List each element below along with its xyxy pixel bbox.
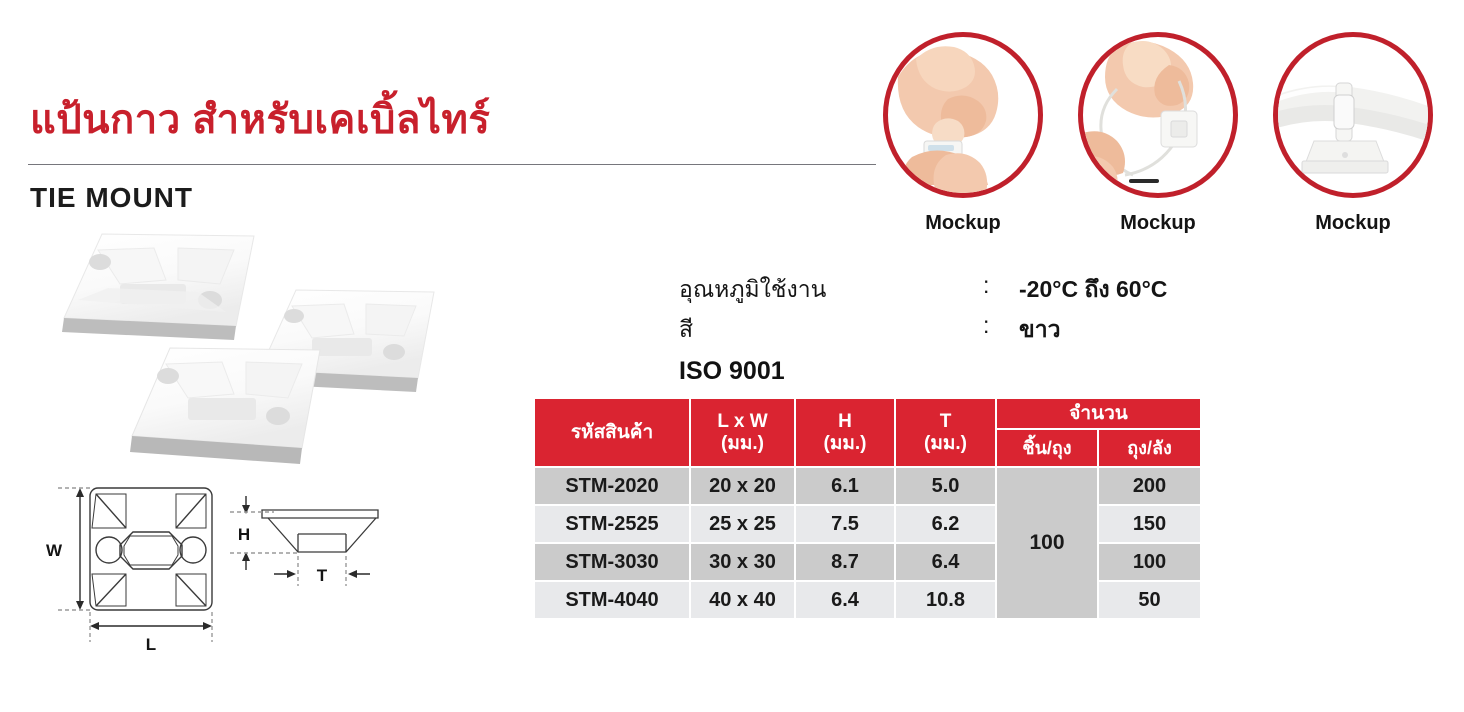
svg-text:L: L bbox=[146, 635, 156, 654]
cell-height: 6.1 bbox=[795, 467, 895, 505]
spec-label-color: สี bbox=[679, 312, 693, 348]
mockup-circle-2 bbox=[1078, 32, 1238, 198]
svg-text:W: W bbox=[46, 541, 63, 560]
cell-thickness: 5.0 bbox=[895, 467, 996, 505]
mockup-item-1: Mockup bbox=[883, 32, 1043, 235]
hand-threading-cable-tie-illustration bbox=[1083, 37, 1233, 193]
cell-bags-per-carton: 100 bbox=[1098, 543, 1201, 581]
header-pieces-per-bag: ชิ้น/ถุง bbox=[996, 429, 1098, 467]
mockup-circle-3 bbox=[1273, 32, 1433, 198]
header-thickness: T (มม.) bbox=[895, 398, 996, 467]
cell-thickness: 10.8 bbox=[895, 581, 996, 619]
mockup-caption-1: Mockup bbox=[883, 212, 1043, 235]
cell-pieces-per-bag: 100 bbox=[996, 467, 1098, 619]
catalog-page: แป้นกาว สำหรับเคเบิ้ลไทร์ TIE MOUNT Mock… bbox=[0, 0, 1464, 712]
cell-height: 8.7 bbox=[795, 543, 895, 581]
spec-label-temperature: อุณหภูมิใช้งาน bbox=[679, 272, 826, 308]
header-t-line2: (มม.) bbox=[924, 433, 967, 454]
cell-length-width: 30 x 30 bbox=[690, 543, 795, 581]
mockup-item-3: Mockup bbox=[1273, 32, 1433, 235]
header-h-line2: (มม.) bbox=[824, 433, 867, 454]
header-t-line1: T bbox=[940, 411, 952, 432]
cell-product-code: STM-3030 bbox=[534, 543, 690, 581]
spec-colon-temperature: : bbox=[983, 272, 989, 299]
header-product-code: รหัสสินค้า bbox=[534, 398, 690, 467]
page-title-thai: แป้นกาว สำหรับเคเบิ้ลไทร์ bbox=[30, 98, 490, 142]
cell-product-code: STM-2525 bbox=[534, 505, 690, 543]
header-length-width: L x W (มม.) bbox=[690, 398, 795, 467]
table-row: STM-2525 25 x 25 7.5 6.2 150 bbox=[534, 505, 1201, 543]
cell-bags-per-carton: 150 bbox=[1098, 505, 1201, 543]
header-h-line1: H bbox=[838, 411, 852, 432]
hand-peeling-adhesive-illustration bbox=[888, 37, 1038, 193]
cell-height: 6.4 bbox=[795, 581, 895, 619]
iso-certification-label: ISO 9001 bbox=[679, 357, 785, 386]
page-title-english: TIE MOUNT bbox=[30, 182, 193, 214]
dimension-diagram: W L bbox=[30, 478, 380, 658]
title-divider bbox=[28, 164, 876, 165]
product-photo bbox=[58, 222, 438, 477]
cell-thickness: 6.4 bbox=[895, 543, 996, 581]
mockup-caption-3: Mockup bbox=[1273, 212, 1433, 235]
table-row: STM-2020 20 x 20 6.1 5.0 100 200 bbox=[534, 467, 1201, 505]
header-height: H (มม.) bbox=[795, 398, 895, 467]
mockup-caption-2: Mockup bbox=[1078, 212, 1238, 235]
table-header-row-1: รหัสสินค้า L x W (มม.) H (มม.) T (มม.) จ… bbox=[534, 398, 1201, 429]
table-row: STM-3030 30 x 30 8.7 6.4 100 bbox=[534, 543, 1201, 581]
header-bags-per-carton: ถุง/ลัง bbox=[1098, 429, 1201, 467]
mount-holding-cables-illustration bbox=[1278, 37, 1428, 193]
cell-bags-per-carton: 50 bbox=[1098, 581, 1201, 619]
table-row: STM-4040 40 x 40 6.4 10.8 50 bbox=[534, 581, 1201, 619]
product-specification-table: รหัสสินค้า L x W (มม.) H (มม.) T (มม.) จ… bbox=[533, 397, 1202, 620]
cell-product-code: STM-2020 bbox=[534, 467, 690, 505]
three-tie-mounts-illustration bbox=[58, 222, 438, 477]
cell-length-width: 25 x 25 bbox=[690, 505, 795, 543]
header-lxw-line2: (มม.) bbox=[721, 433, 764, 454]
cell-bags-per-carton: 200 bbox=[1098, 467, 1201, 505]
spec-colon-color: : bbox=[983, 312, 989, 339]
cell-length-width: 40 x 40 bbox=[690, 581, 795, 619]
svg-text:H: H bbox=[238, 525, 250, 544]
header-quantity: จำนวน bbox=[996, 398, 1201, 429]
technical-drawing: W L bbox=[30, 478, 380, 658]
header-lxw-line1: L x W bbox=[717, 411, 767, 432]
cell-length-width: 20 x 20 bbox=[690, 467, 795, 505]
cell-height: 7.5 bbox=[795, 505, 895, 543]
spec-value-temperature: -20°C ถึง 60°C bbox=[1019, 272, 1167, 308]
cell-thickness: 6.2 bbox=[895, 505, 996, 543]
spec-value-color: ขาว bbox=[1019, 312, 1061, 348]
cell-product-code: STM-4040 bbox=[534, 581, 690, 619]
mockup-circle-1 bbox=[883, 32, 1043, 198]
svg-text:T: T bbox=[317, 566, 328, 585]
mockup-item-2: Mockup bbox=[1078, 32, 1238, 235]
